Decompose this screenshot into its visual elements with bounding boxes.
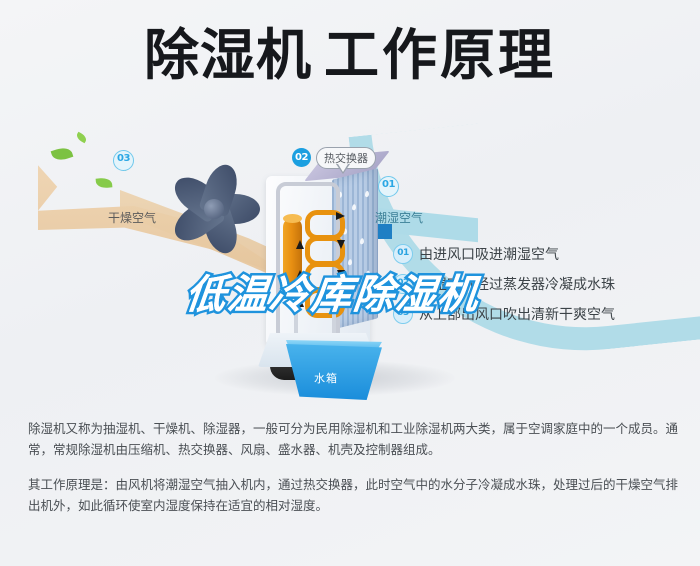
step-label: 由进风口吸进潮湿空气 xyxy=(419,244,559,264)
water-tank-label: 水箱 xyxy=(314,370,338,386)
flow-arrow-icon xyxy=(336,212,345,220)
label-dry-air: 干燥空气 xyxy=(108,209,156,226)
callout-tail xyxy=(336,164,350,174)
water-droplet-icon xyxy=(352,204,356,211)
page-title-part-b: 工作原理 xyxy=(324,28,556,83)
body-copy: 除湿机又称为抽湿机、干燥机、除湿器，一般可分为民用除湿机和工业除湿机两大类，属于… xyxy=(28,418,678,516)
step-number-badge: 01 xyxy=(393,244,413,264)
flow-arrow-icon xyxy=(296,240,304,249)
leaf-icon xyxy=(75,132,88,144)
infographic-page: 除湿机工作原理 xyxy=(0,0,700,566)
flow-arrow-icon xyxy=(337,240,345,249)
watermark-text: 低温冷库除湿机 xyxy=(183,262,483,320)
badge-dry-air: 03 xyxy=(113,150,134,171)
fan-hub xyxy=(204,199,224,219)
leaf-icon xyxy=(96,177,113,188)
paragraph-1: 除湿机又称为抽湿机、干燥机、除湿器，一般可分为民用除湿机和工业除湿机两大类，属于… xyxy=(28,418,678,460)
water-droplet-icon xyxy=(360,238,364,245)
fan-illustration xyxy=(160,155,268,263)
label-humid-air: 潮湿空气 xyxy=(375,209,423,226)
badge-heat-exchanger: 02 xyxy=(292,148,311,167)
page-title-part-a: 除湿机 xyxy=(144,28,312,83)
water-droplet-icon xyxy=(365,191,369,198)
leaf-icon xyxy=(51,145,74,163)
accumulator-cap xyxy=(283,214,302,223)
page-title: 除湿机工作原理 xyxy=(0,28,700,83)
badge-humid-air: 01 xyxy=(378,176,399,197)
paragraph-2: 其工作原理是：由风机将潮湿空气抽入机内，通过热交换器，此时空气中的水分子冷凝成水… xyxy=(28,474,678,516)
